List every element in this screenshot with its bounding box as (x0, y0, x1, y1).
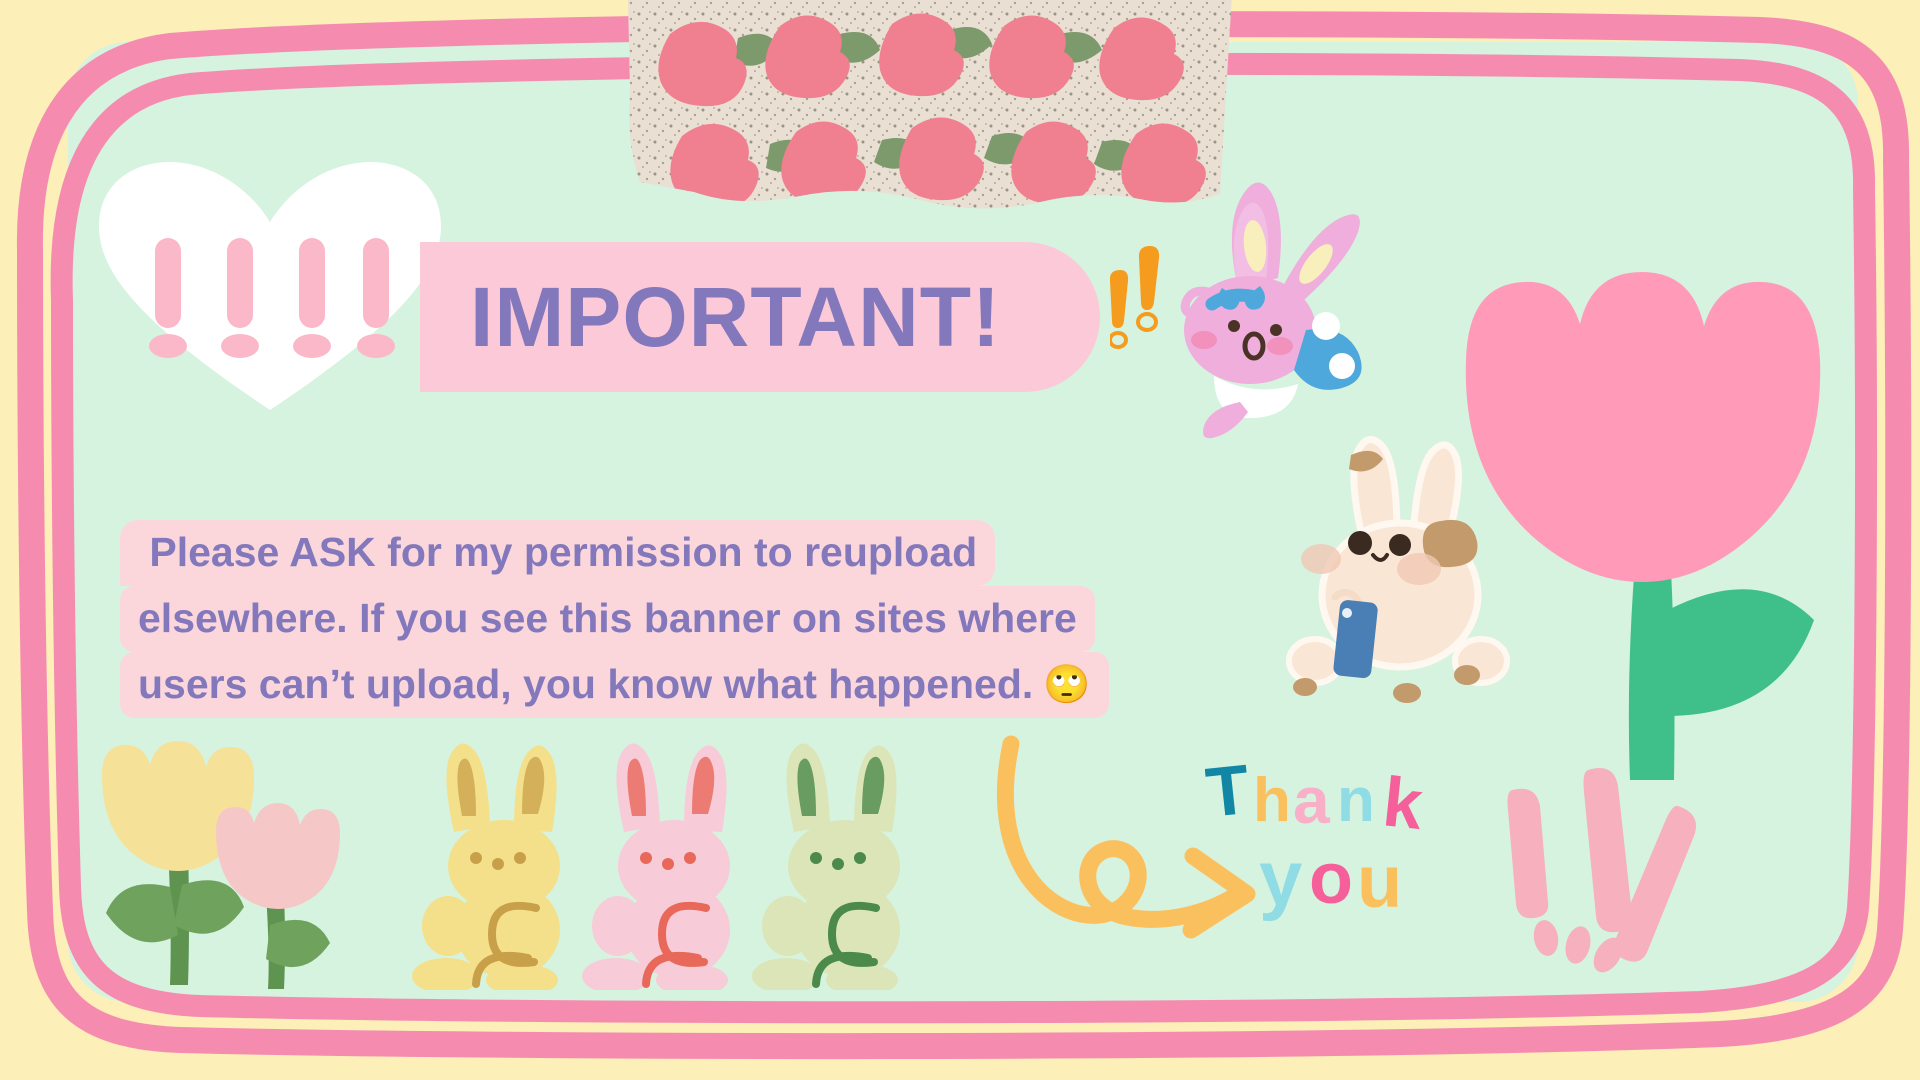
body-line-1: Please ASK for my permission to reupload (120, 520, 995, 586)
candy-bunny-yellow (410, 740, 600, 990)
heart-with-exclamations (95, 160, 445, 420)
banner-canvas: IMPORTANT! (0, 0, 1920, 1080)
washi-tape-roses (620, 0, 1240, 216)
svg-text:a: a (1293, 763, 1331, 837)
small-tulips (90, 735, 350, 995)
candy-bunny-green (750, 740, 940, 990)
body-text-block: Please ASK for my permission to reupload… (120, 520, 1109, 718)
svg-text:y: y (1259, 834, 1302, 922)
page-title: IMPORTANT! (470, 275, 1001, 359)
body-line-3: users can’t upload, you know what happen… (120, 652, 1109, 718)
svg-text:T: T (1205, 755, 1253, 832)
svg-text:k: k (1379, 762, 1426, 844)
thank-you-lettering: T h a n k y o u (1205, 755, 1475, 945)
body-line-2: elsewhere. If you see this banner on sit… (120, 586, 1095, 652)
svg-text:n: n (1337, 766, 1375, 835)
rolling-eyes-emoji: 🙄 (1043, 666, 1090, 704)
svg-text:o: o (1309, 839, 1353, 919)
candy-bunny-pink (580, 740, 770, 990)
svg-text:h: h (1253, 766, 1291, 835)
body-line-3-text: users can’t upload, you know what happen… (138, 664, 1033, 705)
phone-bunny-sticker (1285, 435, 1515, 710)
title-bar: IMPORTANT! (420, 242, 1100, 392)
pink-exclamations (1490, 760, 1720, 985)
svg-text:u: u (1357, 840, 1402, 923)
orange-exclamations (1110, 240, 1190, 350)
